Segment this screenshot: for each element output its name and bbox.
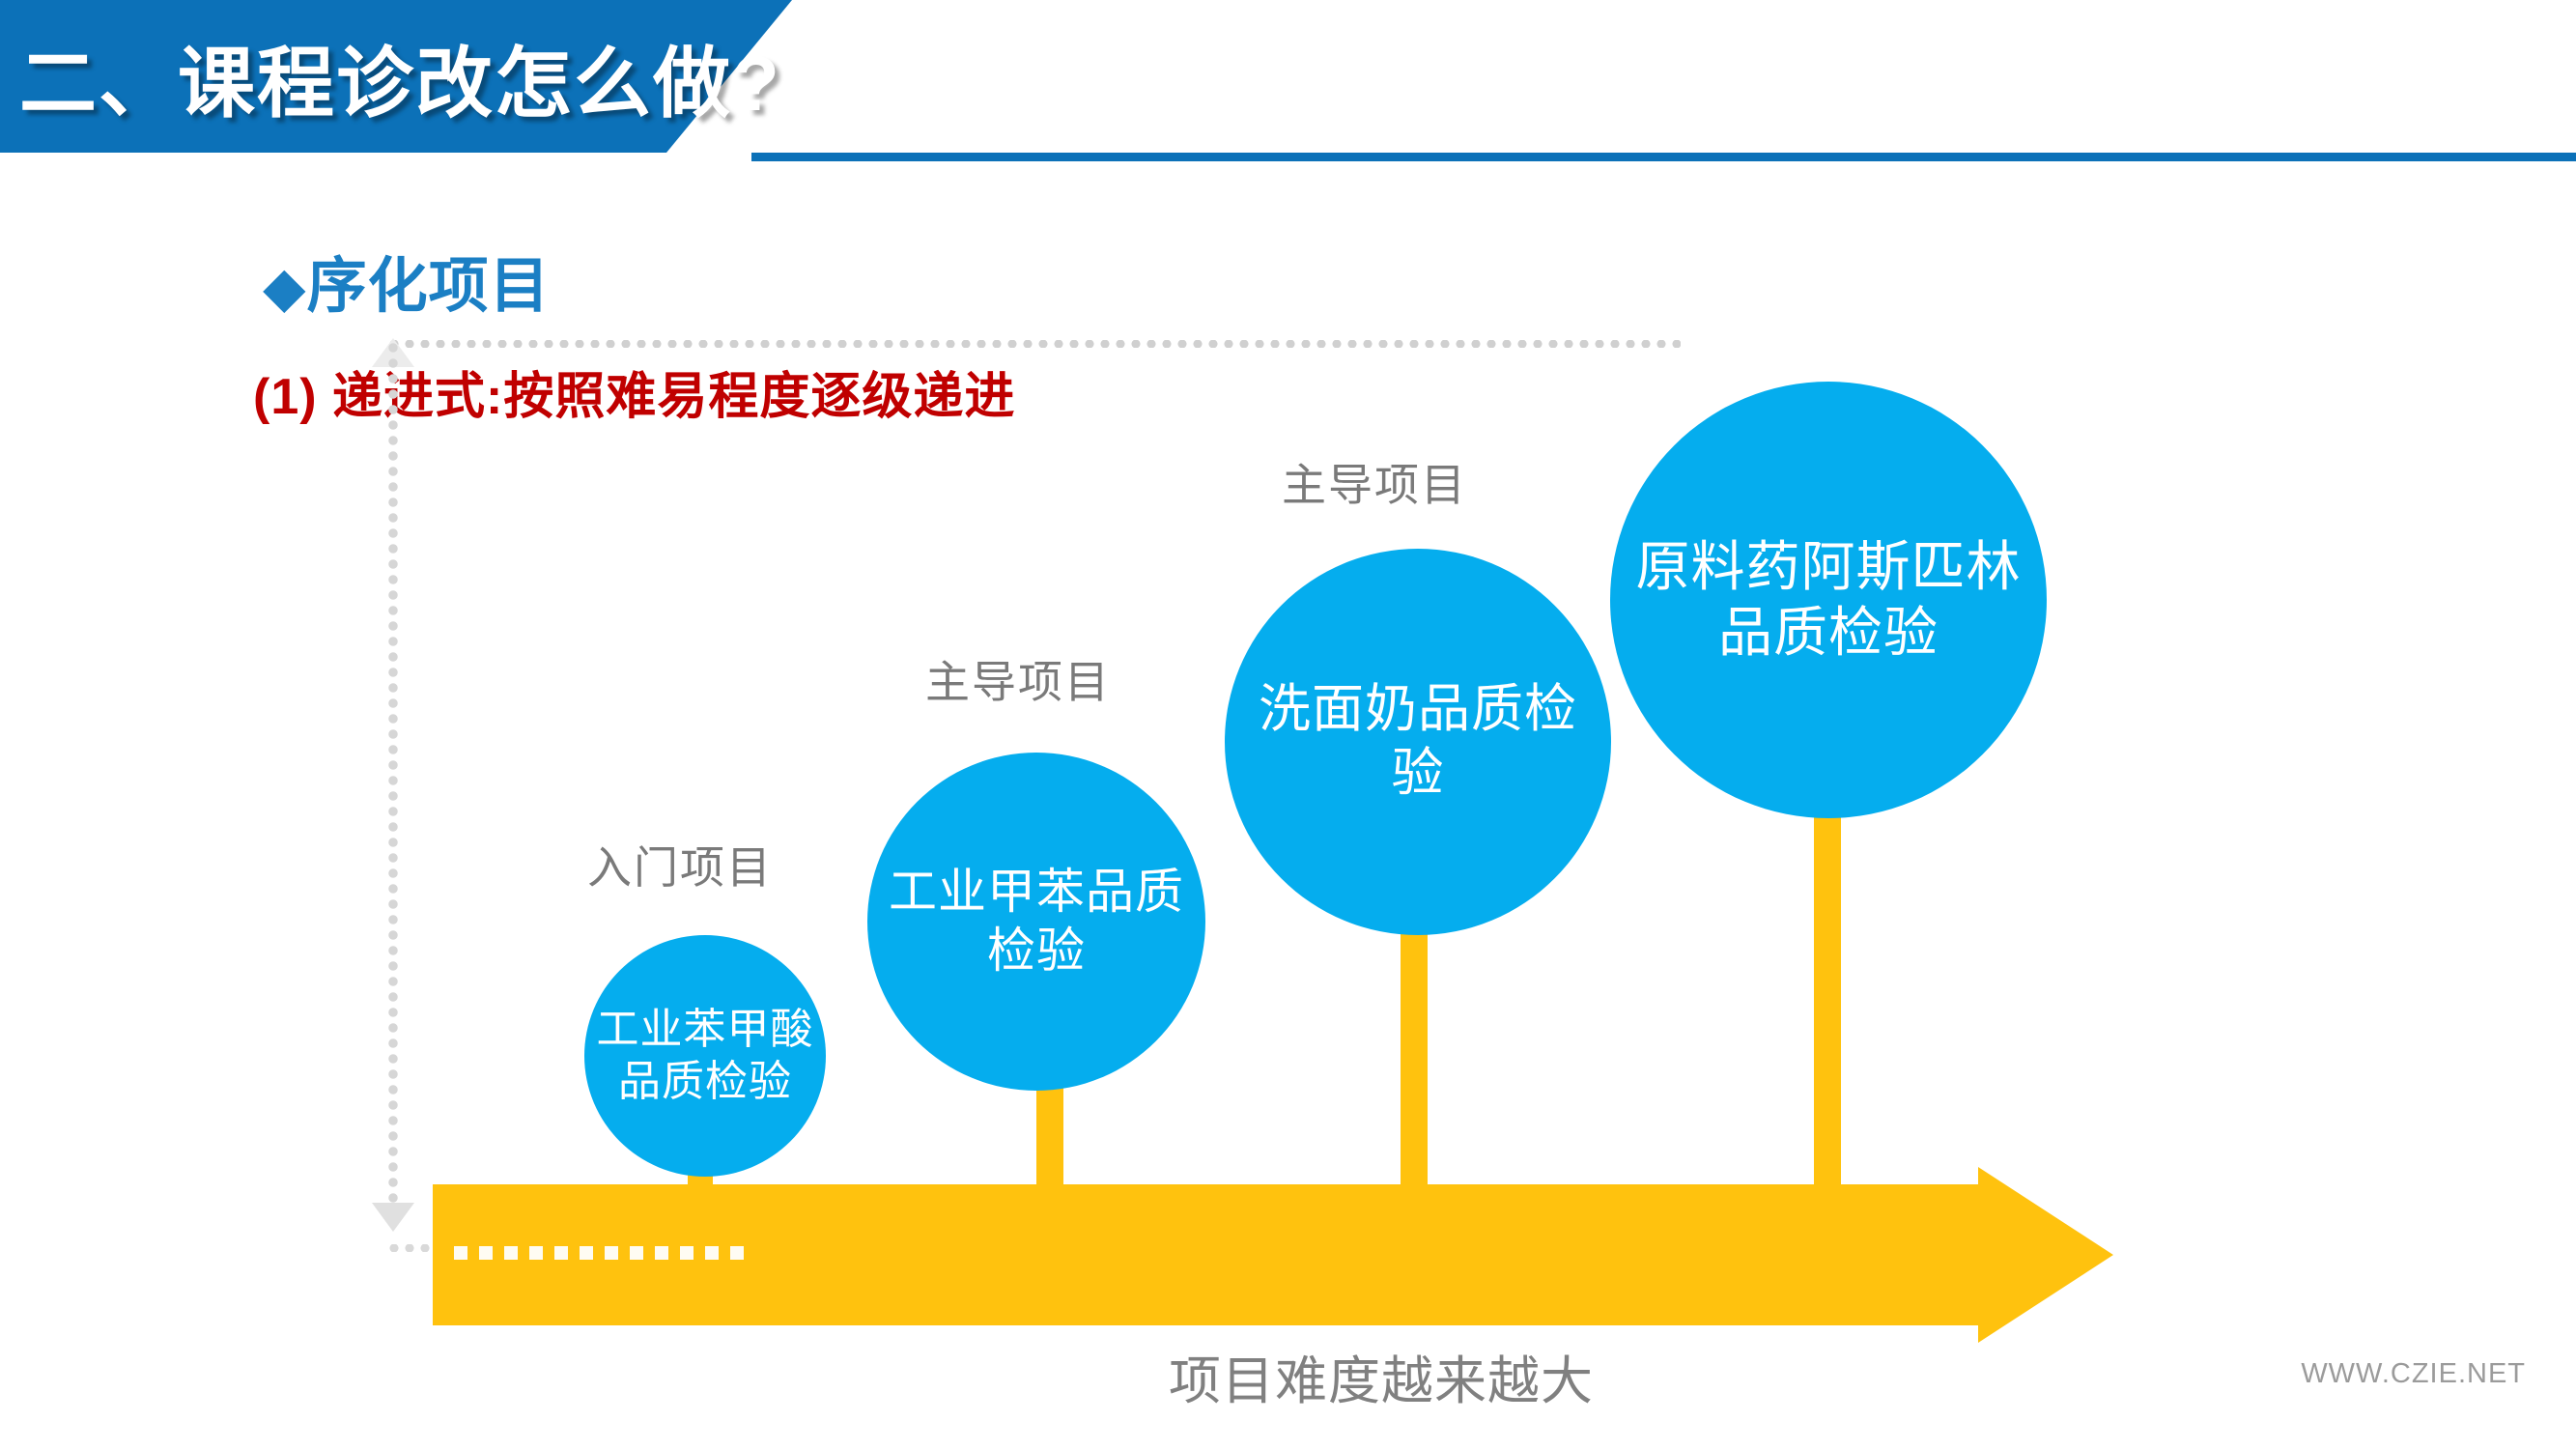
dotted-guide-arrow-down-icon — [372, 1203, 414, 1232]
project-bubble-3-label: 洗面奶品质检验 — [1225, 678, 1611, 806]
slide-canvas: 二、课程诊改怎么做? ◆序化项目 (1) 递进式:按照难易程度逐级递进 入门项目… — [0, 0, 2576, 1450]
page-title: 二、课程诊改怎么做? — [19, 5, 782, 150]
project-bubble-1-label: 工业苯甲酸品质检验 — [584, 1004, 826, 1107]
stage-label-2: 主导项目 — [925, 647, 1111, 711]
axis-caption: 项目难度越来越大 — [1169, 1338, 1594, 1414]
section-heading-label: 序化项目 — [307, 253, 551, 320]
diamond-bullet-icon: ◆ — [263, 256, 307, 319]
header-divider-rule — [751, 153, 2576, 161]
project-bubble-2[interactable]: 工业甲苯品质检验 — [867, 753, 1205, 1091]
stage-label-1: 入门项目 — [587, 833, 773, 896]
project-bubble-4[interactable]: 原料药阿斯匹林品质检验 — [1610, 382, 2047, 818]
stage-label-3: 主导项目 — [1282, 450, 1467, 514]
watermark: WWW.CZIE.NET — [2301, 1358, 2526, 1390]
section-heading: ◆序化项目 — [263, 237, 551, 324]
axis-dash-marks — [454, 1246, 744, 1260]
dotted-guide-left — [388, 340, 398, 1219]
project-bubble-3[interactable]: 洗面奶品质检验 — [1225, 549, 1611, 935]
sub-heading: (1) 递进式:按照难易程度逐级递进 — [253, 355, 1015, 428]
project-bubble-1[interactable]: 工业苯甲酸品质检验 — [584, 935, 826, 1177]
project-bubble-4-label: 原料药阿斯匹林品质检验 — [1610, 534, 2047, 667]
project-bubble-2-label: 工业甲苯品质检验 — [867, 863, 1205, 981]
dotted-guide-top — [386, 340, 1681, 348]
